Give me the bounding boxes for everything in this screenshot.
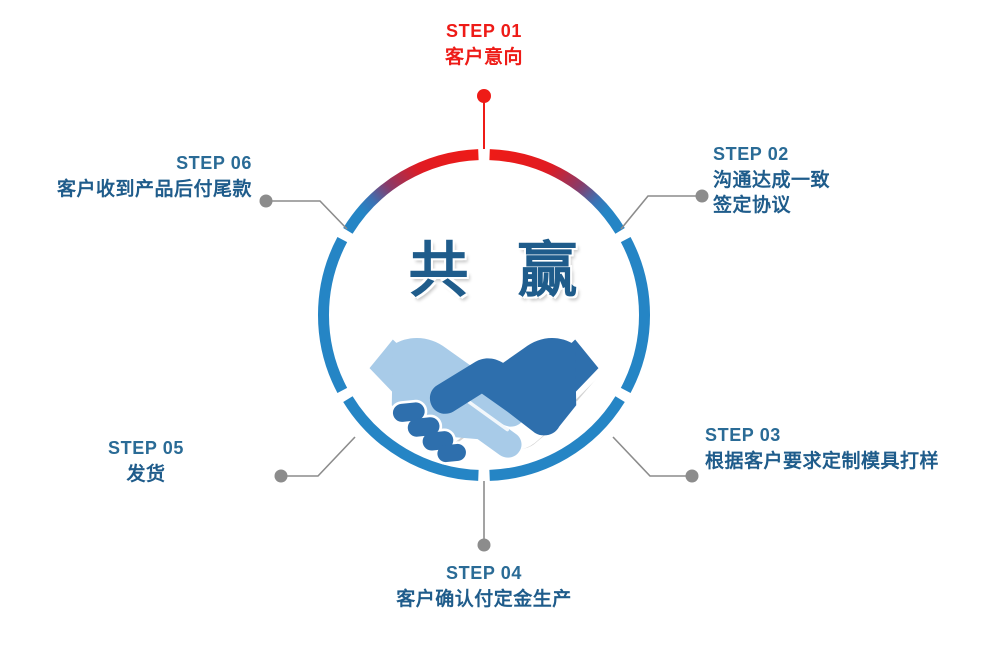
step-title-02-line2: 签定协议 xyxy=(713,193,830,219)
step-number-02: STEP 02 xyxy=(713,143,830,166)
connector-dot-step-05 xyxy=(275,470,288,483)
ring-segment-6 xyxy=(348,155,479,231)
step-title-03: 根据客户要求定制模具打样 xyxy=(705,449,939,475)
step-title-02: 沟通达成一致 xyxy=(713,168,830,194)
connector-step-04 xyxy=(478,481,491,552)
step-title-04: 客户确认付定金生产 xyxy=(334,587,634,613)
connector-dot-step-02 xyxy=(696,190,709,203)
connector-dot-step-01 xyxy=(477,89,491,103)
step-label-04[interactable]: STEP 04 客户确认付定金生产 xyxy=(334,562,634,612)
handshake-left-finger-lines xyxy=(469,385,520,430)
step-label-01[interactable]: STEP 01 客户意向 xyxy=(334,20,634,70)
step-number-05: STEP 05 xyxy=(40,437,252,460)
ring-and-connectors-layer xyxy=(0,0,1000,650)
connector-step-05 xyxy=(275,437,356,483)
step-title-01: 客户意向 xyxy=(334,45,634,71)
step-number-06: STEP 06 xyxy=(20,152,252,175)
connector-dot-step-04 xyxy=(478,539,491,552)
handshake-shadow xyxy=(373,344,602,449)
connector-dot-step-06 xyxy=(260,195,273,208)
progress-ring xyxy=(323,155,644,476)
center-word: 共 赢 xyxy=(0,222,1000,309)
step-label-06[interactable]: STEP 06 客户收到产品后付尾款 xyxy=(20,152,252,202)
step-label-02[interactable]: STEP 02 沟通达成一致 签定协议 xyxy=(713,143,830,219)
step-number-01: STEP 01 xyxy=(334,20,634,43)
ring-segment-4 xyxy=(348,399,479,475)
step-label-05[interactable]: STEP 05 发货 xyxy=(40,437,252,487)
step-label-03[interactable]: STEP 03 根据客户要求定制模具打样 xyxy=(705,424,939,474)
connector-dot-step-03 xyxy=(686,470,699,483)
ring-segment-3 xyxy=(490,399,620,475)
handshake-left-hand xyxy=(370,338,527,458)
step-title-06: 客户收到产品后付尾款 xyxy=(20,177,252,203)
handshake-right-hand xyxy=(430,338,599,435)
connector-step-01 xyxy=(477,89,491,149)
handshake-knuckles xyxy=(392,402,467,463)
step-title-05: 发货 xyxy=(40,462,252,488)
step-number-03: STEP 03 xyxy=(705,424,939,447)
process-circle-diagram: 共 赢 STEP 01 客户意向 STEP 02 沟通达成一致 签定协议 STE… xyxy=(0,0,1000,650)
connector-step-03 xyxy=(613,437,699,483)
handshake-outline xyxy=(367,336,600,445)
step-number-04: STEP 04 xyxy=(334,562,634,585)
ring-segment-1 xyxy=(490,155,620,231)
handshake-icon xyxy=(0,0,1000,650)
